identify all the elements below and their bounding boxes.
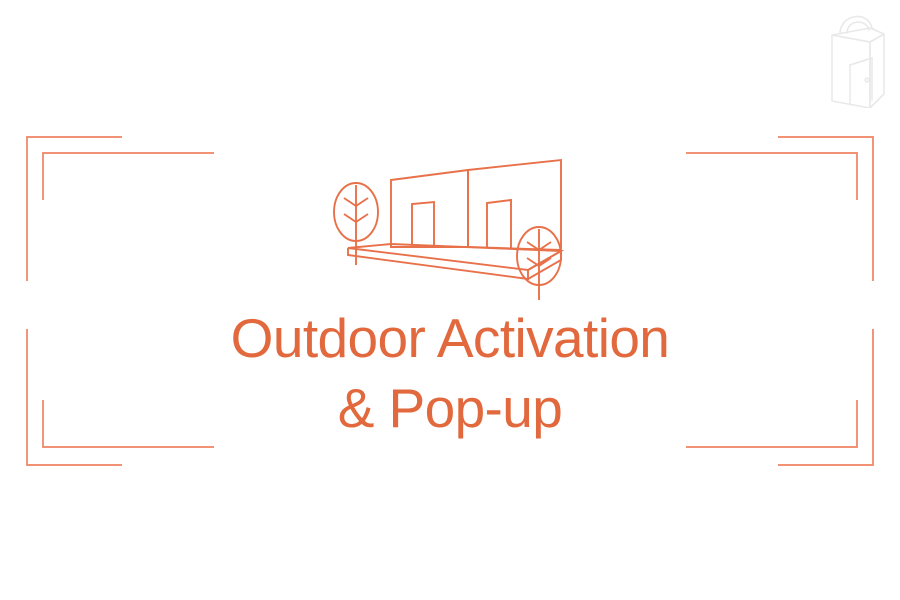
tree-left-branch-4: [356, 214, 368, 222]
slide-canvas: Outdoor Activation & Pop-up: [0, 0, 900, 600]
doorway-left: [412, 202, 434, 247]
tree-left-branch-3: [344, 214, 356, 222]
title-line-1: Outdoor Activation: [0, 303, 900, 373]
tree-right-branch-3: [527, 258, 539, 266]
title-line-2: & Pop-up: [0, 373, 900, 443]
sidewalk-platform-right-edge: [528, 251, 561, 270]
building-facade-left-panel: [391, 170, 468, 247]
storefront-pop-up-illustration: [330, 152, 572, 300]
tree-left-branch-2: [356, 198, 368, 206]
shopping-bag-svg: [822, 8, 888, 108]
shopping-bag-icon: [822, 8, 888, 108]
building-facade-right-panel: [468, 160, 561, 250]
bracket-top-right-inner: [686, 153, 857, 200]
bracket-top-left-inner: [43, 153, 214, 200]
bracket-top-right-outer: [778, 137, 873, 281]
bag-door-knob: [865, 78, 869, 82]
bag-front-face: [832, 35, 870, 108]
tree-left-branch-1: [344, 198, 356, 206]
doorway-right: [487, 200, 511, 248]
bracket-top-left-outer: [27, 137, 122, 281]
bag-doorway-lintel: [850, 58, 872, 65]
sidewalk-platform-front: [348, 248, 528, 279]
storefront-svg: [330, 152, 572, 300]
page-title: Outdoor Activation & Pop-up: [0, 303, 900, 443]
